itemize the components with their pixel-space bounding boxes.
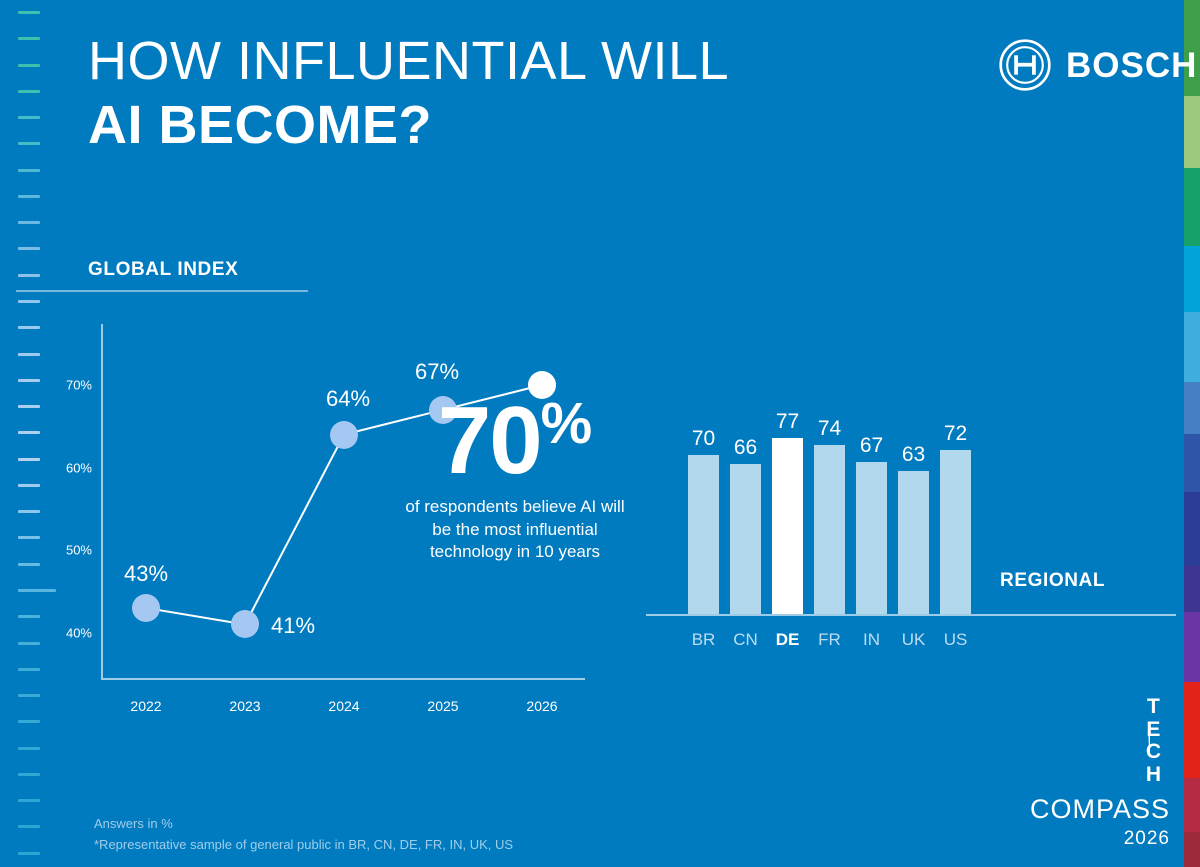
- ruler-tick: [18, 747, 40, 750]
- line-chart-y-tick-label: 50%: [66, 543, 92, 558]
- line-chart-x-tick-label: 2022: [130, 698, 161, 714]
- ruler-tick: [18, 642, 40, 645]
- line-chart-point: [231, 610, 259, 638]
- global-index-rule: [16, 290, 308, 292]
- stripe-band: [1184, 312, 1200, 382]
- bosch-logo: BOSCH: [998, 38, 1197, 92]
- stripe-band: [1184, 778, 1200, 832]
- ruler-tick: [18, 353, 40, 356]
- line-chart-point-label: 67%: [415, 359, 459, 385]
- line-chart-y-tick-label: 40%: [66, 625, 92, 640]
- stripe-band: [1184, 612, 1200, 682]
- ruler-tick: [18, 11, 40, 14]
- stripe-band: [1184, 382, 1200, 434]
- tech-compass-year: 2026: [1124, 829, 1170, 848]
- line-chart-x-tick-label: 2024: [328, 698, 359, 714]
- ruler-tick: [18, 300, 40, 303]
- ruler-tick: [18, 852, 40, 855]
- line-chart-point: [132, 594, 160, 622]
- stripe-band: [1184, 832, 1200, 867]
- bar-value-label: 77: [776, 410, 799, 434]
- bar-column: 74FR: [814, 420, 845, 616]
- stripe-band: [1184, 246, 1200, 312]
- bar: [898, 471, 929, 616]
- bar: [856, 462, 887, 616]
- line-chart-point-label: 43%: [124, 561, 168, 587]
- ruler-tick: [18, 694, 40, 697]
- ruler-tick: [18, 90, 40, 93]
- callout-percent-sign: %: [541, 391, 593, 456]
- page-title-line1: HOW INFLUENTIAL WILL: [88, 34, 729, 88]
- callout-value: 70: [438, 387, 541, 494]
- line-chart-y-tick-label: 70%: [66, 378, 92, 393]
- ruler-tick: [18, 458, 40, 461]
- regional-heading: REGIONAL: [1000, 570, 1105, 592]
- ruler-tick: [18, 247, 40, 250]
- stripe-band: [1184, 434, 1200, 492]
- ruler-tick: [18, 668, 40, 671]
- bosch-armature-icon: [998, 38, 1052, 92]
- bar-chart-plot-area: 70BR66CN77DE74FR67IN63UK72US: [688, 420, 988, 616]
- bar-category-label: DE: [776, 630, 800, 650]
- ruler-tick: [18, 484, 40, 487]
- ruler-tick: [18, 64, 40, 67]
- ruler-tick: [18, 195, 40, 198]
- ruler-tick: [18, 221, 40, 224]
- ruler-tick: [18, 720, 40, 723]
- line-chart-point-label: 64%: [326, 386, 370, 412]
- bar-value-label: 74: [818, 417, 841, 441]
- line-chart-x-tick-label: 2023: [229, 698, 260, 714]
- tech-compass-letter: H: [1146, 764, 1162, 787]
- ruler-tick: [18, 116, 40, 119]
- tech-compass-word: COMPASS: [1030, 796, 1170, 823]
- headline-statistic: 70% of respondents believe AI will be th…: [400, 395, 630, 564]
- stripe-band: [1184, 566, 1200, 612]
- page-title-line2: AI BECOME?: [88, 98, 729, 152]
- bar-category-label: CN: [733, 630, 758, 650]
- ruler-tick: [18, 405, 40, 408]
- line-chart-point: [330, 421, 358, 449]
- right-color-stripe: [1184, 0, 1200, 867]
- bar-category-label: FR: [818, 630, 841, 650]
- stripe-band: [1184, 492, 1200, 566]
- line-chart-y-axis: 40%50%60%70%: [46, 318, 92, 718]
- bar-category-label: UK: [902, 630, 926, 650]
- tech-compass-letter: T: [1146, 696, 1162, 719]
- footnote-line1: Answers in %: [94, 814, 513, 835]
- tech-compass-letter: E: [1146, 719, 1162, 742]
- bar-value-label: 70: [692, 427, 715, 451]
- line-chart-point-label: 41%: [271, 613, 315, 639]
- ruler-tick: [18, 615, 40, 618]
- regional-bar-chart: 70BR66CN77DE74FR67IN63UK72US REGIONAL: [646, 390, 1176, 660]
- line-chart-x-tick-label: 2026: [526, 698, 557, 714]
- bar-category-label: BR: [692, 630, 716, 650]
- bar-value-label: 66: [734, 436, 757, 460]
- line-chart-y-tick-label: 60%: [66, 460, 92, 475]
- global-index-heading: GLOBAL INDEX: [88, 259, 238, 281]
- bar: [814, 445, 845, 616]
- ruler-tick: [18, 142, 40, 145]
- tech-compass-logo: TECH COMPASS 2026: [1010, 696, 1178, 846]
- bar-value-label: 67: [860, 434, 883, 458]
- footnote-line2: *Representative sample of general public…: [94, 835, 513, 856]
- bar-column: 72US: [940, 420, 971, 616]
- left-ruler-decoration: [0, 0, 46, 867]
- ruler-tick: [18, 563, 40, 566]
- compass-fan-icon: [1010, 696, 1150, 806]
- stripe-band: [1184, 96, 1200, 168]
- ruler-tick: [18, 799, 40, 802]
- tech-compass-tech: TECH: [1146, 696, 1162, 787]
- bar-column: 67IN: [856, 420, 887, 616]
- page-title: HOW INFLUENTIAL WILL AI BECOME?: [88, 34, 729, 152]
- bar-category-label: US: [944, 630, 968, 650]
- bar-column: 77DE: [772, 420, 803, 616]
- ruler-tick: [18, 379, 40, 382]
- bar-chart-baseline: [646, 614, 1176, 616]
- callout-description: of respondents believe AI will be the mo…: [400, 496, 630, 563]
- callout-number: 70%: [400, 395, 630, 486]
- bar-column: 70BR: [688, 420, 719, 616]
- bar-highlight: [772, 438, 803, 616]
- bar: [730, 464, 761, 616]
- bar-column: 66CN: [730, 420, 761, 616]
- bar-value-label: 63: [902, 443, 925, 467]
- bar-value-label: 72: [944, 422, 967, 446]
- stripe-band: [1184, 682, 1200, 778]
- ruler-tick: [18, 773, 40, 776]
- bar-column: 63UK: [898, 420, 929, 616]
- tech-compass-letter: C: [1146, 741, 1162, 764]
- infographic-canvas: HOW INFLUENTIAL WILL AI BECOME? BOSCH GL…: [0, 0, 1200, 867]
- stripe-band: [1184, 168, 1200, 246]
- ruler-tick: [18, 169, 40, 172]
- ruler-tick: [18, 326, 40, 329]
- ruler-tick: [18, 510, 40, 513]
- line-chart-x-tick-label: 2025: [427, 698, 458, 714]
- bosch-wordmark: BOSCH: [1066, 48, 1197, 83]
- ruler-tick: [18, 431, 40, 434]
- ruler-tick: [18, 37, 40, 40]
- footnote: Answers in % *Representative sample of g…: [94, 814, 513, 856]
- ruler-tick: [18, 536, 40, 539]
- bar: [940, 450, 971, 616]
- bar-category-label: IN: [863, 630, 880, 650]
- ruler-tick: [18, 825, 40, 828]
- ruler-tick: [18, 274, 40, 277]
- bar: [688, 455, 719, 616]
